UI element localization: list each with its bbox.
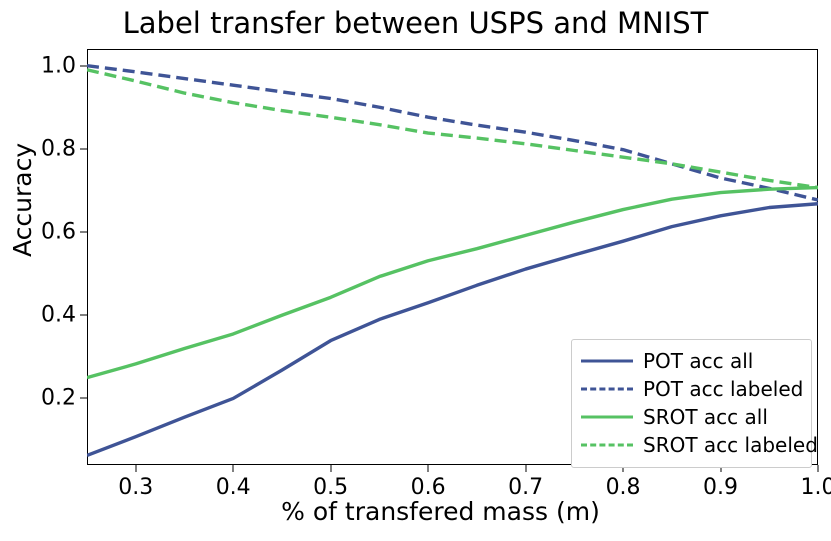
x-tick-label: 0.9: [703, 475, 738, 500]
y-tick-label: 1.0: [41, 53, 76, 78]
x-tick-mark: [233, 465, 234, 472]
x-tick-mark: [525, 465, 526, 472]
chart-figure: Label transfer between USPS and MNIST Ac…: [0, 0, 831, 541]
x-tick-label: 0.7: [508, 475, 543, 500]
y-tick-mark: [80, 398, 87, 399]
y-tick-mark: [80, 148, 87, 149]
series-line-srot-acc-labeled: [87, 70, 818, 188]
x-tick-label: 0.4: [216, 475, 251, 500]
legend-item-pot-acc-all: POT acc all: [581, 347, 802, 375]
y-tick-label: 0.4: [41, 303, 76, 328]
legend-item-srot-acc-labeled: SROT acc labeled: [581, 431, 802, 459]
legend-item-srot-acc-all: SROT acc all: [581, 403, 802, 431]
legend-swatch-srot-acc-labeled: [581, 438, 633, 452]
y-tick-label: 0.8: [41, 136, 76, 161]
legend-label-pot-acc-all: POT acc all: [643, 351, 753, 371]
y-tick-label: 0.2: [41, 386, 76, 411]
y-tick-mark: [80, 232, 87, 233]
x-axis-label: % of transfered mass (m): [0, 497, 831, 526]
legend-label-pot-acc-labeled: POT acc labeled: [643, 379, 803, 399]
y-tick-label: 0.6: [41, 220, 76, 245]
chart-legend: POT acc all POT acc labeled SROT acc all…: [571, 339, 812, 468]
chart-title: Label transfer between USPS and MNIST: [0, 6, 831, 40]
legend-swatch-pot-acc-labeled: [581, 382, 633, 396]
x-tick-mark: [135, 465, 136, 472]
legend-swatch-pot-acc-all: [581, 354, 633, 368]
x-tick-label: 0.6: [411, 475, 446, 500]
series-line-pot-acc-labeled: [87, 66, 818, 200]
x-tick-label: 1.0: [801, 475, 831, 500]
x-tick-mark: [428, 465, 429, 472]
legend-label-srot-acc-all: SROT acc all: [643, 407, 768, 427]
y-axis-label: Accuracy: [8, 143, 37, 257]
y-tick-mark: [80, 65, 87, 66]
legend-swatch-srot-acc-all: [581, 410, 633, 424]
x-tick-mark: [330, 465, 331, 472]
legend-label-srot-acc-labeled: SROT acc labeled: [643, 435, 818, 455]
legend-item-pot-acc-labeled: POT acc labeled: [581, 375, 802, 403]
x-tick-label: 0.8: [606, 475, 641, 500]
x-tick-mark: [818, 465, 819, 472]
y-tick-mark: [80, 315, 87, 316]
x-tick-label: 0.3: [118, 475, 153, 500]
x-tick-label: 0.5: [313, 475, 348, 500]
